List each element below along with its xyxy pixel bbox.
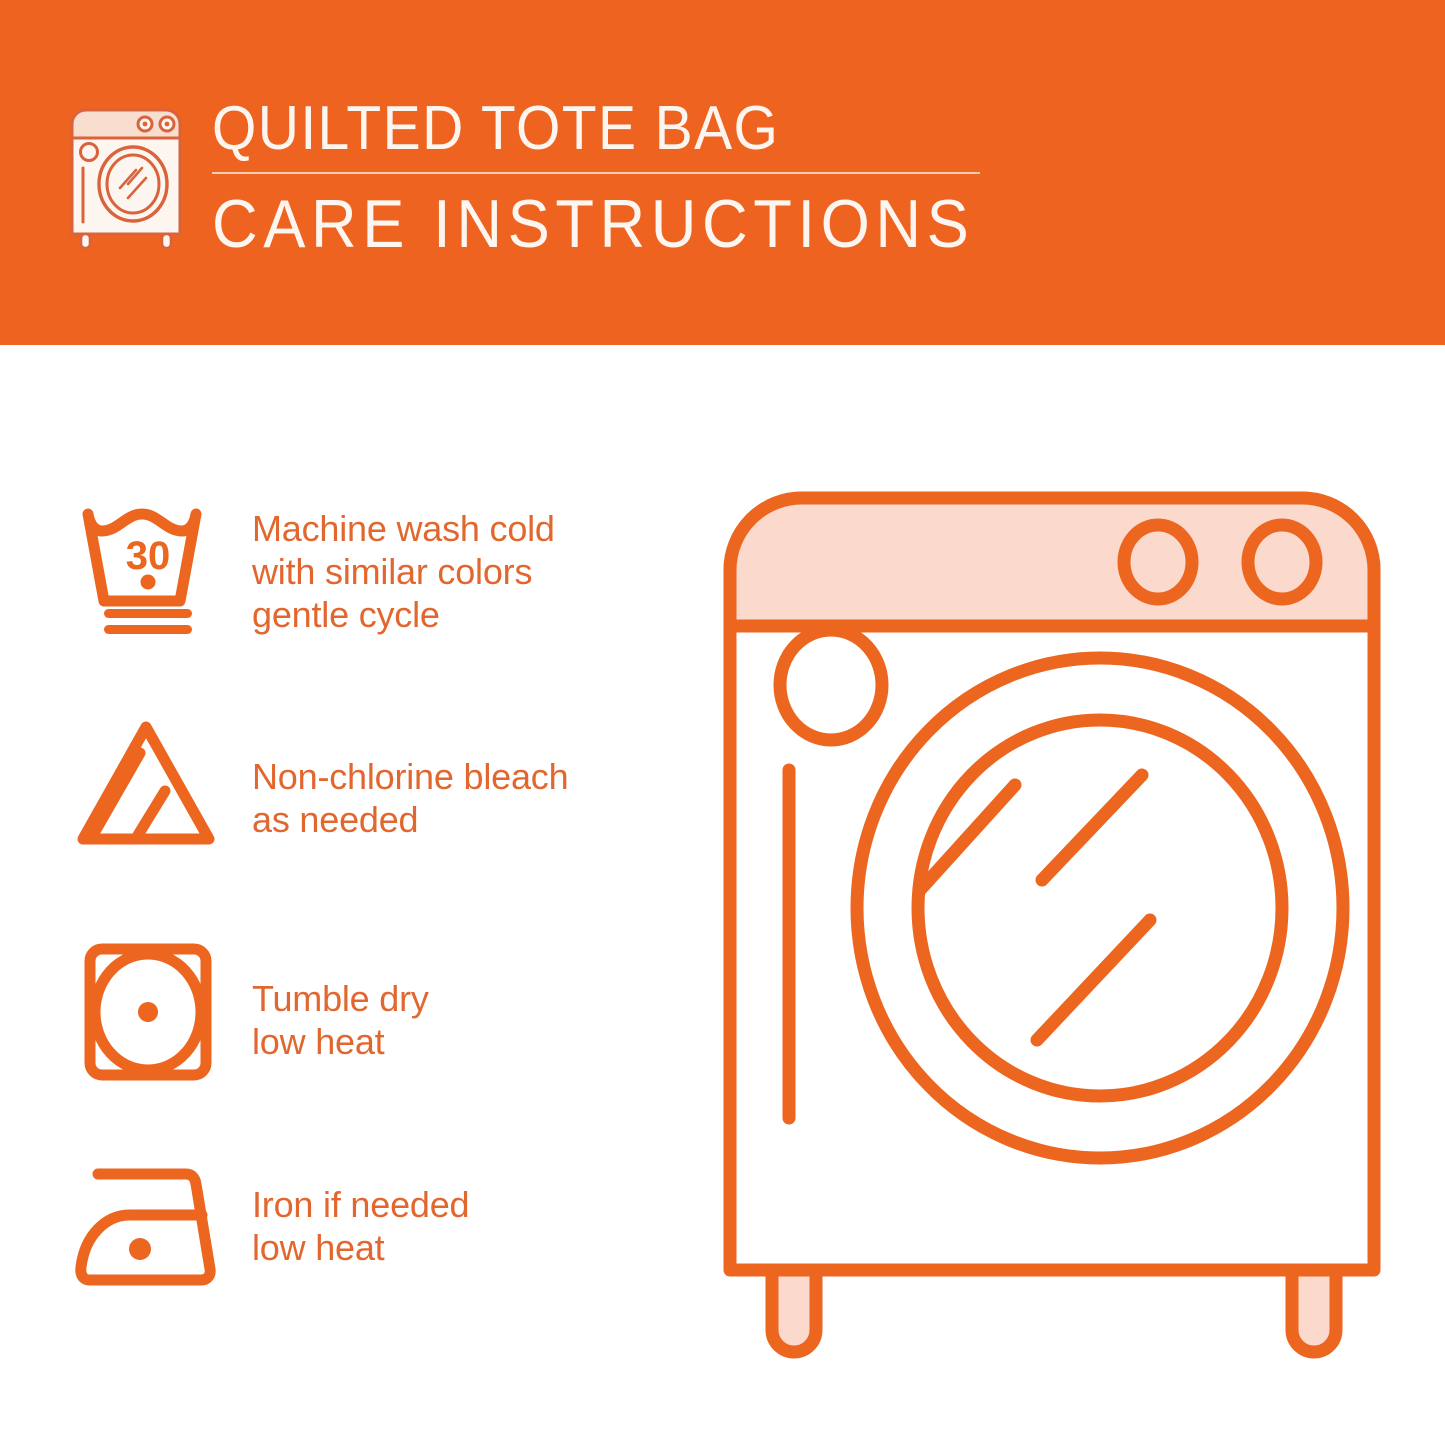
header-text-block: QUILTED TOTE BAG CARE INSTRUCTIONS [212, 96, 1002, 260]
care-line: Iron if needed [252, 1183, 469, 1226]
care-item-tumble-dry: Tumble dry low heat [68, 937, 688, 1087]
care-item-bleach: Non-chlorine bleach as needed [68, 713, 688, 863]
non-chlorine-bleach-triangle-icon [68, 713, 234, 863]
care-line: Machine wash cold [252, 507, 555, 550]
iron-low-heat-icon [68, 1153, 234, 1303]
title-divider [212, 172, 980, 174]
care-line: Non-chlorine bleach [252, 755, 568, 798]
care-item-label: Tumble dry low heat [252, 937, 429, 1063]
header-band: QUILTED TOTE BAG CARE INSTRUCTIONS [0, 0, 1445, 345]
care-instructions-list: 30 Machine wash cold with similar colors… [0, 345, 700, 1445]
care-line: low heat [252, 1020, 429, 1063]
care-instructions-page: QUILTED TOTE BAG CARE INSTRUCTIONS 30 [0, 0, 1445, 1445]
care-line: gentle cycle [252, 593, 555, 636]
page-title: QUILTED TOTE BAG [212, 96, 939, 162]
care-line: low heat [252, 1226, 469, 1269]
care-line: Tumble dry [252, 977, 429, 1020]
care-item-machine-wash: 30 Machine wash cold with similar colors… [68, 497, 688, 647]
page-subtitle: CARE INSTRUCTIONS [212, 188, 947, 260]
washing-machine-icon [66, 104, 186, 254]
washing-machine-illustration [712, 480, 1392, 1370]
care-item-iron: Iron if needed low heat [68, 1153, 688, 1303]
tumble-dry-low-heat-icon [68, 937, 234, 1087]
care-item-label: Iron if needed low heat [252, 1153, 469, 1269]
care-item-label: Machine wash cold with similar colors ge… [252, 497, 555, 636]
care-line: with similar colors [252, 550, 555, 593]
care-line: as needed [252, 798, 568, 841]
care-item-label: Non-chlorine bleach as needed [252, 713, 568, 841]
wash-temperature-value: 30 [126, 534, 171, 578]
wash-tub-30-gentle-icon: 30 [68, 497, 234, 647]
